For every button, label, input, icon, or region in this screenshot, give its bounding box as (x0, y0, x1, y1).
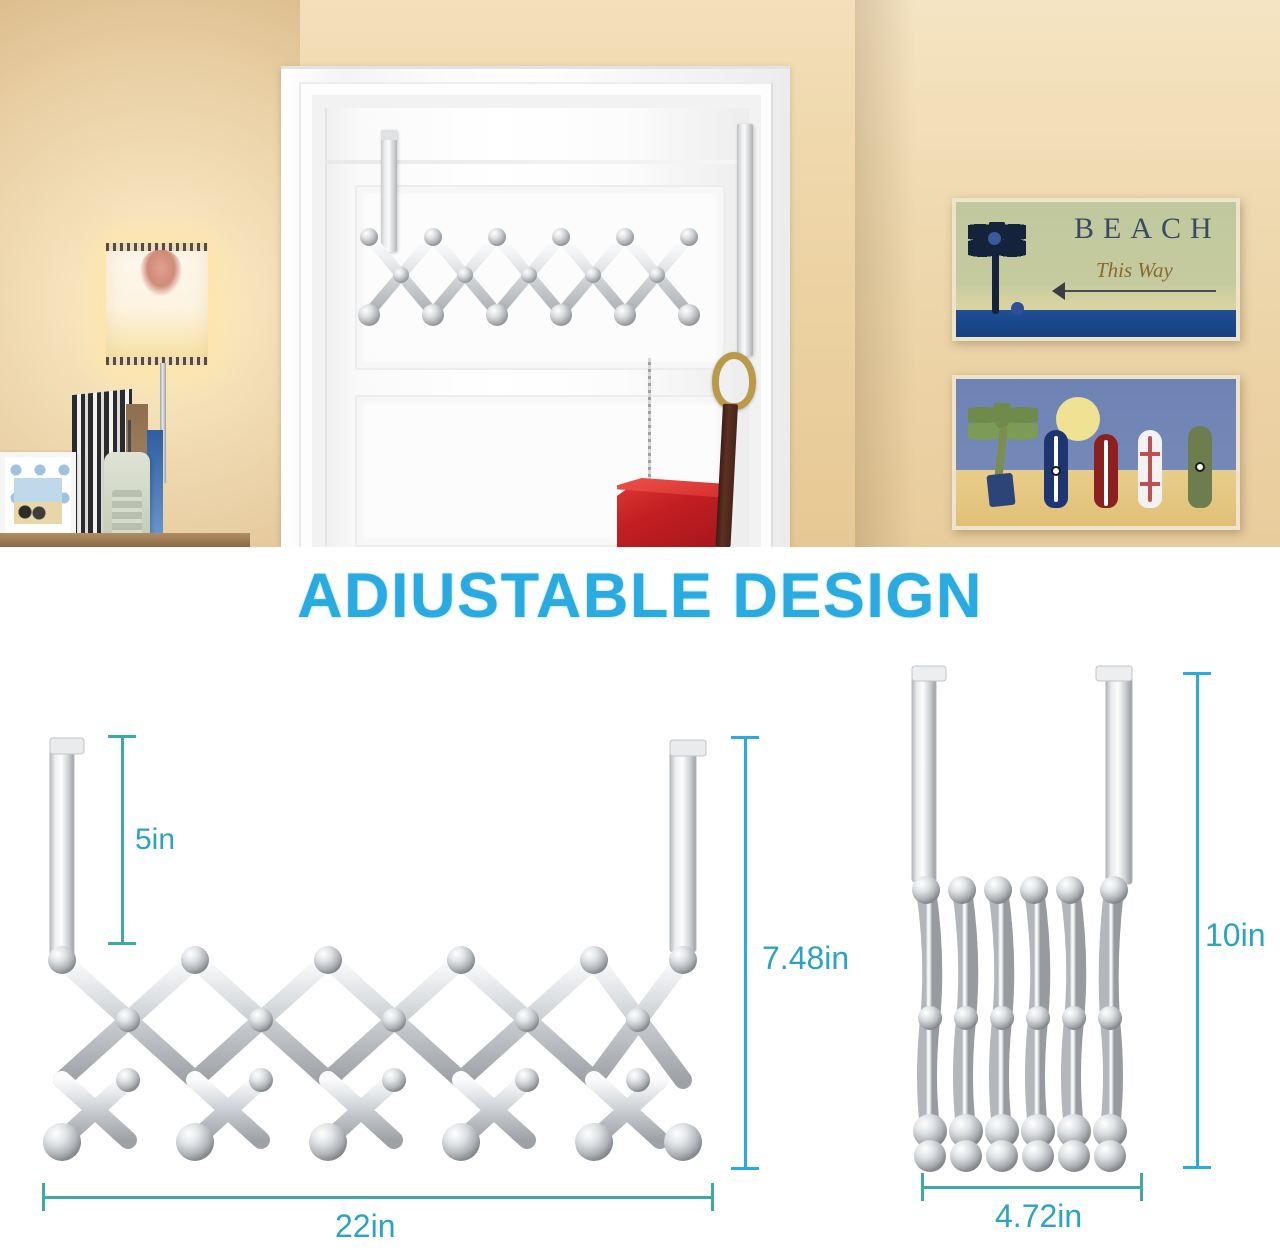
dimension-cap-4-72in-left (921, 1173, 924, 1201)
dimension-cap-7-48in-bottom (731, 1167, 759, 1170)
surfboard-white (1138, 430, 1162, 508)
beach-chair (986, 473, 1015, 508)
left-arrow-icon (1052, 282, 1065, 300)
palm-trunk (992, 248, 999, 314)
picture-frame-subject (18, 503, 46, 521)
desk-surface (0, 533, 250, 547)
dimension-label-10in: 10in (1205, 917, 1266, 954)
sign-subheading: This Way (1096, 258, 1173, 283)
dimension-cap-5in-top (108, 735, 136, 738)
dimension-line-4-72in (921, 1186, 1143, 1189)
expanded-rack-illustration (20, 680, 780, 1240)
beach-ball (1011, 302, 1024, 315)
beach-sign-art: BEACH This Way (952, 198, 1240, 341)
dimension-cap-7-48in-top (731, 736, 759, 739)
belt-buckle-icon (712, 352, 756, 410)
dimension-label-7-48in: 7.48in (762, 940, 849, 977)
sign-heading: BEACH (1074, 212, 1221, 246)
lamp-shade-print (140, 250, 182, 296)
dimension-cap-10in-top (1183, 672, 1211, 675)
headline: ADIUSTABLE DESIGN (0, 560, 1280, 632)
dimension-label-5in: 5in (135, 823, 175, 857)
surfboard-red (1094, 434, 1118, 508)
collapsed-rack-illustration (900, 658, 1180, 1193)
dimension-cap-22in-right (711, 1183, 714, 1211)
dimension-label-22in: 22in (335, 1208, 396, 1245)
infographic-page: BEACH This Way ADIUSTABLE DE (0, 0, 1280, 1250)
dimension-cap-5in-bottom (108, 942, 136, 945)
dimension-line-22in (42, 1196, 714, 1199)
surfboard-navy (1044, 430, 1068, 508)
sign-arrow-line (1056, 290, 1216, 292)
dimension-diagram: 5in 7.48in 22in (0, 640, 1280, 1250)
dimension-cap-22in-left (42, 1183, 45, 1211)
over-door-hook-left (381, 130, 397, 140)
surfboard-green (1188, 426, 1212, 508)
lifestyle-photo: BEACH This Way (0, 0, 1280, 547)
dimension-cap-10in-bottom (1183, 1166, 1211, 1169)
dimension-line-10in (1196, 672, 1199, 1169)
dimension-cap-4-72in-right (1140, 1173, 1143, 1201)
dimension-line-7-48in (744, 736, 747, 1170)
phone-keypad (112, 490, 142, 538)
wall-shadow (855, 0, 915, 547)
dimension-line-5in (121, 735, 124, 945)
beach-painting-art (952, 375, 1240, 530)
dimension-label-4-72in: 4.72in (995, 1198, 1082, 1235)
handbag-chain (648, 358, 651, 486)
coconut (988, 232, 1001, 245)
accordion-rack-installed (355, 215, 755, 365)
